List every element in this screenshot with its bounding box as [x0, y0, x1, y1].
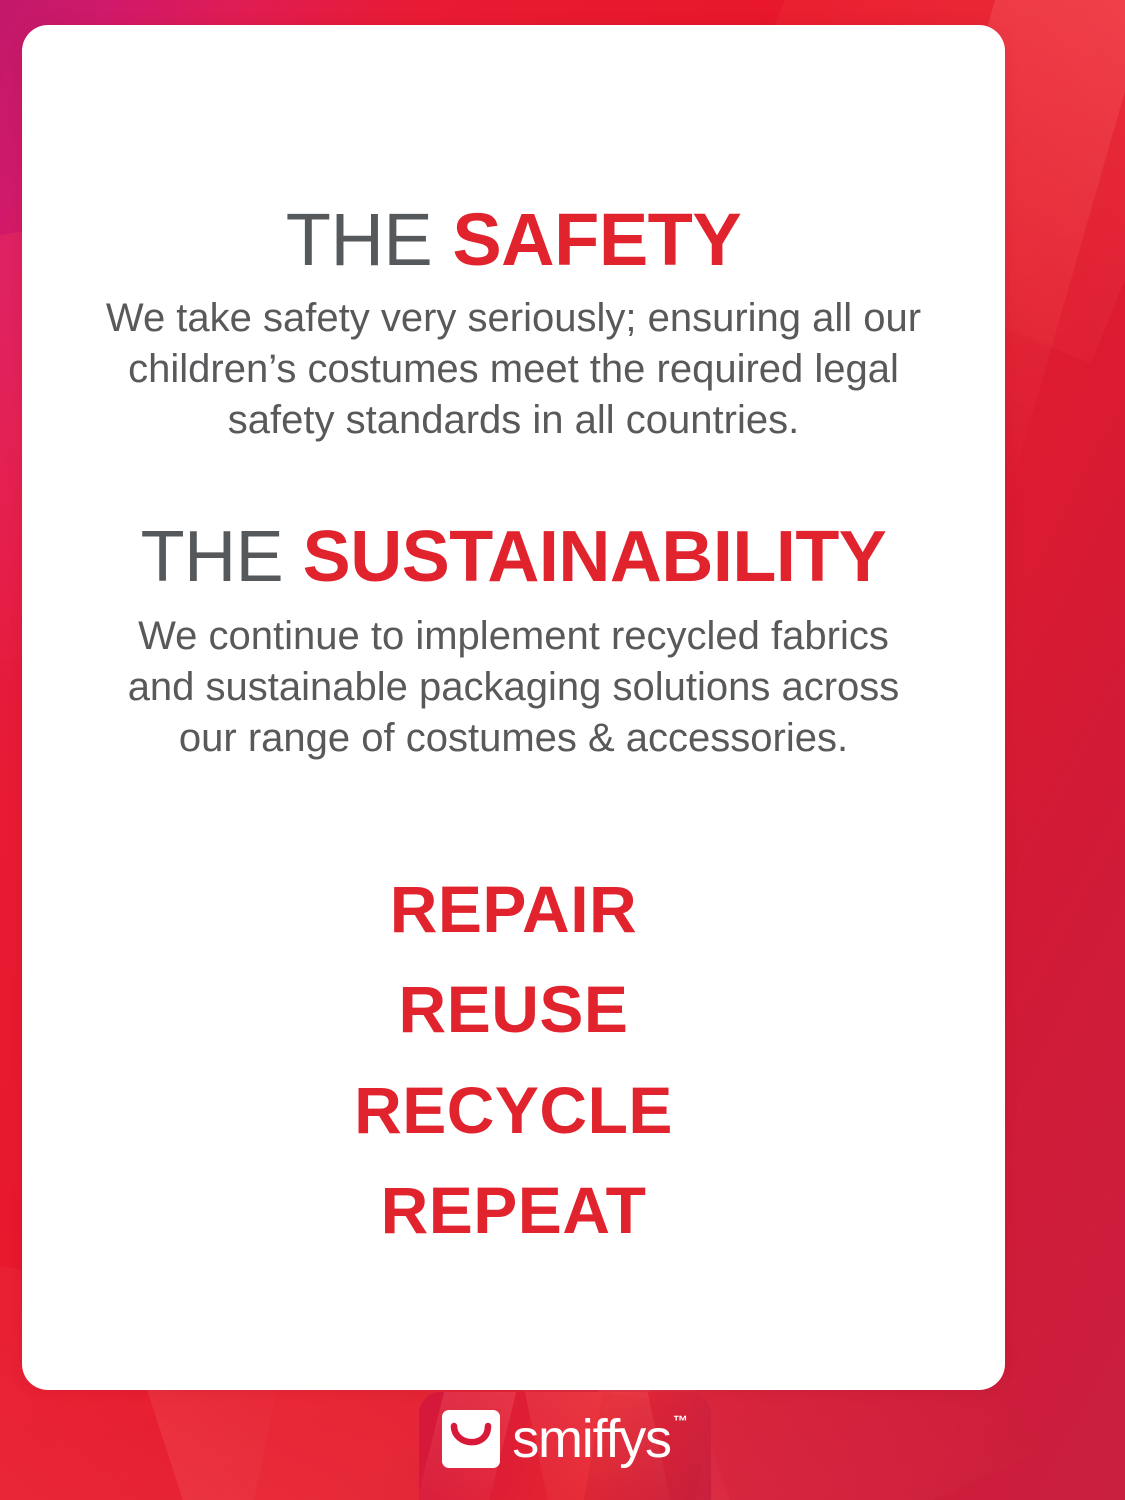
mantra-word-repair: REPAIR — [60, 859, 967, 959]
sustainability-heading-prefix: THE — [141, 517, 284, 597]
safety-heading: THE SAFETY — [60, 203, 967, 277]
mantra-word-reuse: REUSE — [60, 959, 967, 1059]
brand-wordmark-wrap: smiffys ™ — [512, 1412, 688, 1466]
section-sustainability: THE SUSTAINABILITY We continue to implem… — [60, 521, 967, 765]
brand-logo: smiffys ™ — [419, 1410, 711, 1468]
trademark-symbol: ™ — [673, 1414, 688, 1429]
section-safety: THE SAFETY We take safety very seriously… — [60, 203, 967, 447]
poster-canvas: THE SAFETY We take safety very seriously… — [0, 0, 1125, 1500]
brand-logo-tab: smiffys ™ — [419, 1392, 711, 1500]
mantra-word-repeat: REPEAT — [60, 1160, 967, 1260]
sustainability-heading: THE SUSTAINABILITY — [60, 521, 967, 593]
mantra-list: REPAIR REUSE RECYCLE REPEAT — [60, 859, 967, 1260]
safety-heading-accent: SAFETY — [452, 198, 741, 281]
mantra-word-recycle: RECYCLE — [60, 1060, 967, 1160]
content-card: THE SAFETY We take safety very seriously… — [22, 25, 1005, 1390]
sustainability-body-text: We continue to implement recycled fabric… — [109, 611, 919, 765]
card-inner: THE SAFETY We take safety very seriously… — [22, 25, 1005, 1390]
safety-body-text: We take safety very seriously; ensuring … — [99, 293, 929, 447]
brand-wordmark: smiffys — [512, 1412, 671, 1466]
sustainability-heading-accent: SUSTAINABILITY — [303, 517, 887, 597]
smile-arc-icon — [442, 1410, 500, 1468]
safety-heading-prefix: THE — [286, 198, 433, 281]
